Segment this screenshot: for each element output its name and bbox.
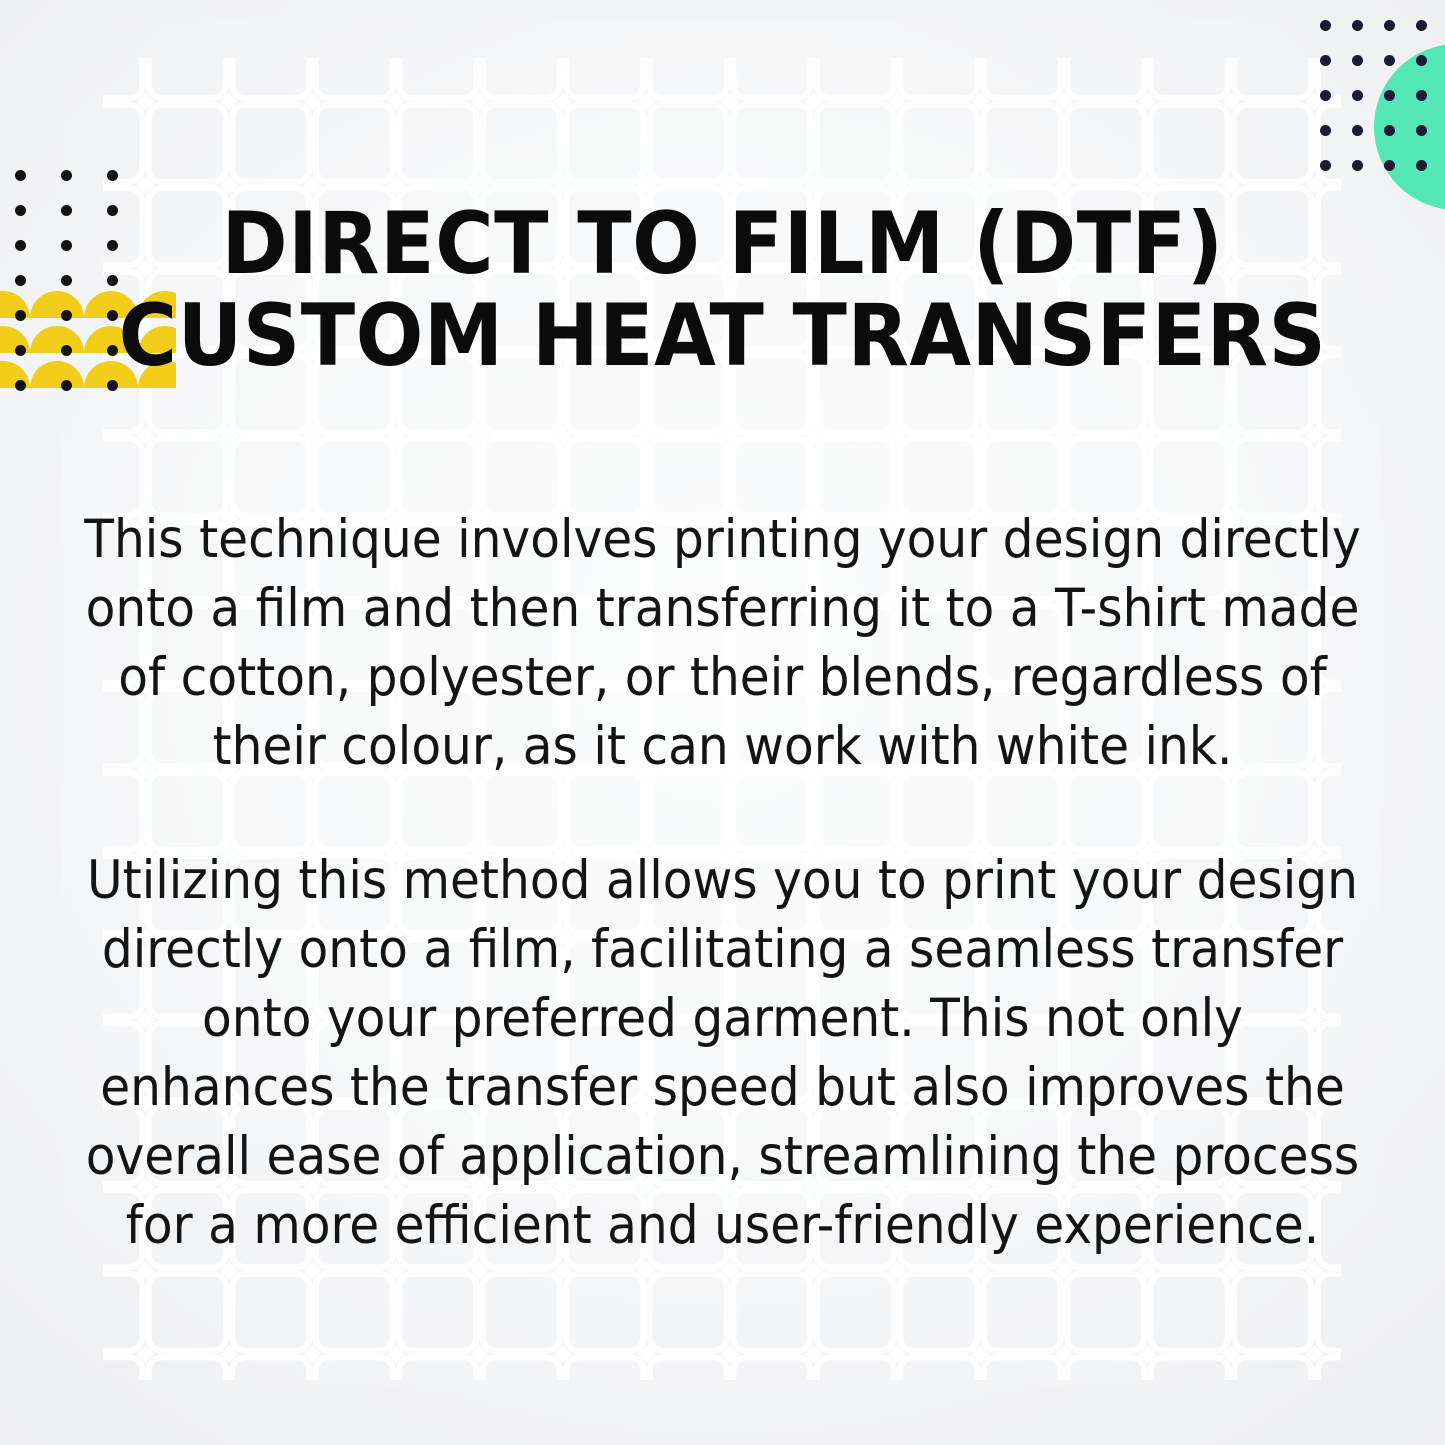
poster-canvas: DIRECT TO FILM (DTF) CUSTOM HEAT TRANSFE… — [0, 0, 1445, 1445]
poster-content: DIRECT TO FILM (DTF) CUSTOM HEAT TRANSFE… — [0, 0, 1445, 1445]
page-title-line-1: DIRECT TO FILM (DTF) — [81, 198, 1363, 291]
page-title: DIRECT TO FILM (DTF) CUSTOM HEAT TRANSFE… — [81, 198, 1363, 384]
description-paragraph-one: This technique involves printing your de… — [82, 505, 1362, 781]
page-title-line-2: CUSTOM HEAT TRANSFERS — [81, 290, 1363, 383]
description-paragraph-two: Utilizing this method allows you to prin… — [82, 846, 1362, 1260]
